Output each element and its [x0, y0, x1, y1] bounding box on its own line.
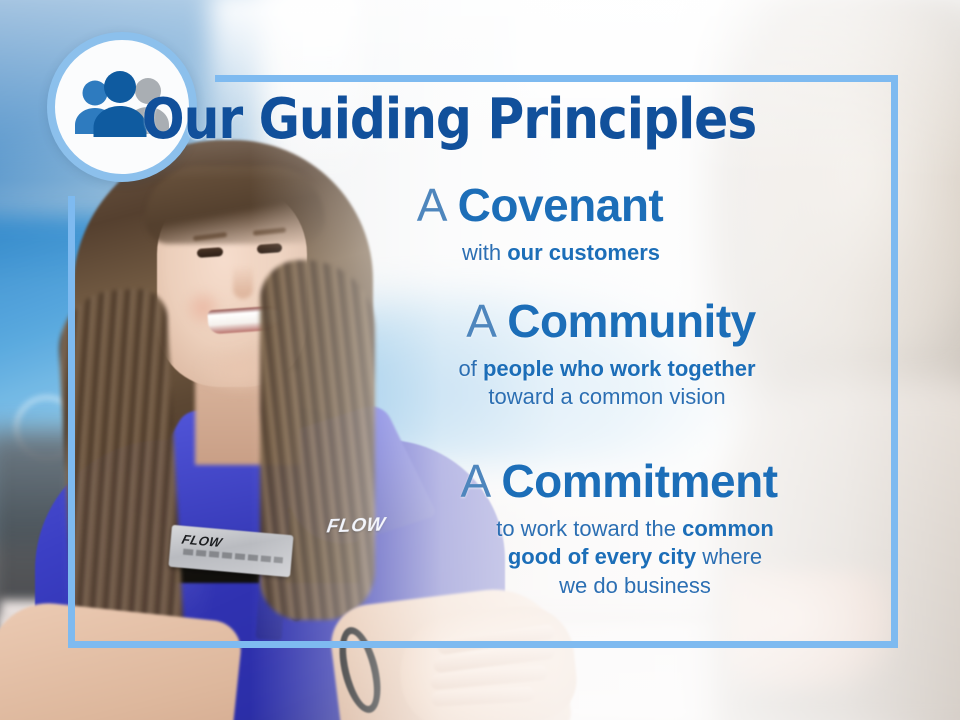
principle-keyword: Covenant [458, 179, 664, 231]
subtext-plain-line2: where [696, 544, 762, 569]
principle-commitment: A Commitment to work toward the common g… [300, 458, 860, 601]
principle-subtext: to work toward the common good of every … [300, 515, 860, 601]
principle-article: A [417, 179, 445, 231]
principle-heading: A Covenant [260, 182, 820, 230]
principle-heading: A Community [300, 298, 860, 346]
principle-covenant: A Covenant with our customers [260, 182, 820, 267]
subtext-bold: people who work together [483, 356, 756, 381]
principle-keyword: Commitment [501, 455, 777, 507]
subtext-bold: our customers [507, 240, 660, 265]
principle-subtext: with our customers [260, 239, 820, 268]
principle-article: A [466, 295, 494, 347]
principle-keyword: Community [507, 295, 756, 347]
text-content: Our Guiding Principles A Covenant with o… [0, 0, 960, 720]
subtext-bold: common [682, 516, 774, 541]
banner-root: FLOW FLOW [0, 0, 960, 720]
principle-heading: A Commitment [300, 458, 860, 506]
page-title: Our Guiding Principles [45, 92, 853, 148]
principle-article: A [460, 455, 488, 507]
subtext-bold-line2: good of every city [508, 544, 696, 569]
subtext-plain-line2: toward a common vision [488, 384, 725, 409]
principle-community: A Community of people who work together … [300, 298, 860, 412]
subtext-plain: of [458, 356, 482, 381]
principle-subtext: of people who work together toward a com… [300, 355, 860, 412]
subtext-plain-line3: we do business [559, 573, 711, 598]
subtext-plain: to work toward the [496, 516, 682, 541]
subtext-plain: with [462, 240, 507, 265]
